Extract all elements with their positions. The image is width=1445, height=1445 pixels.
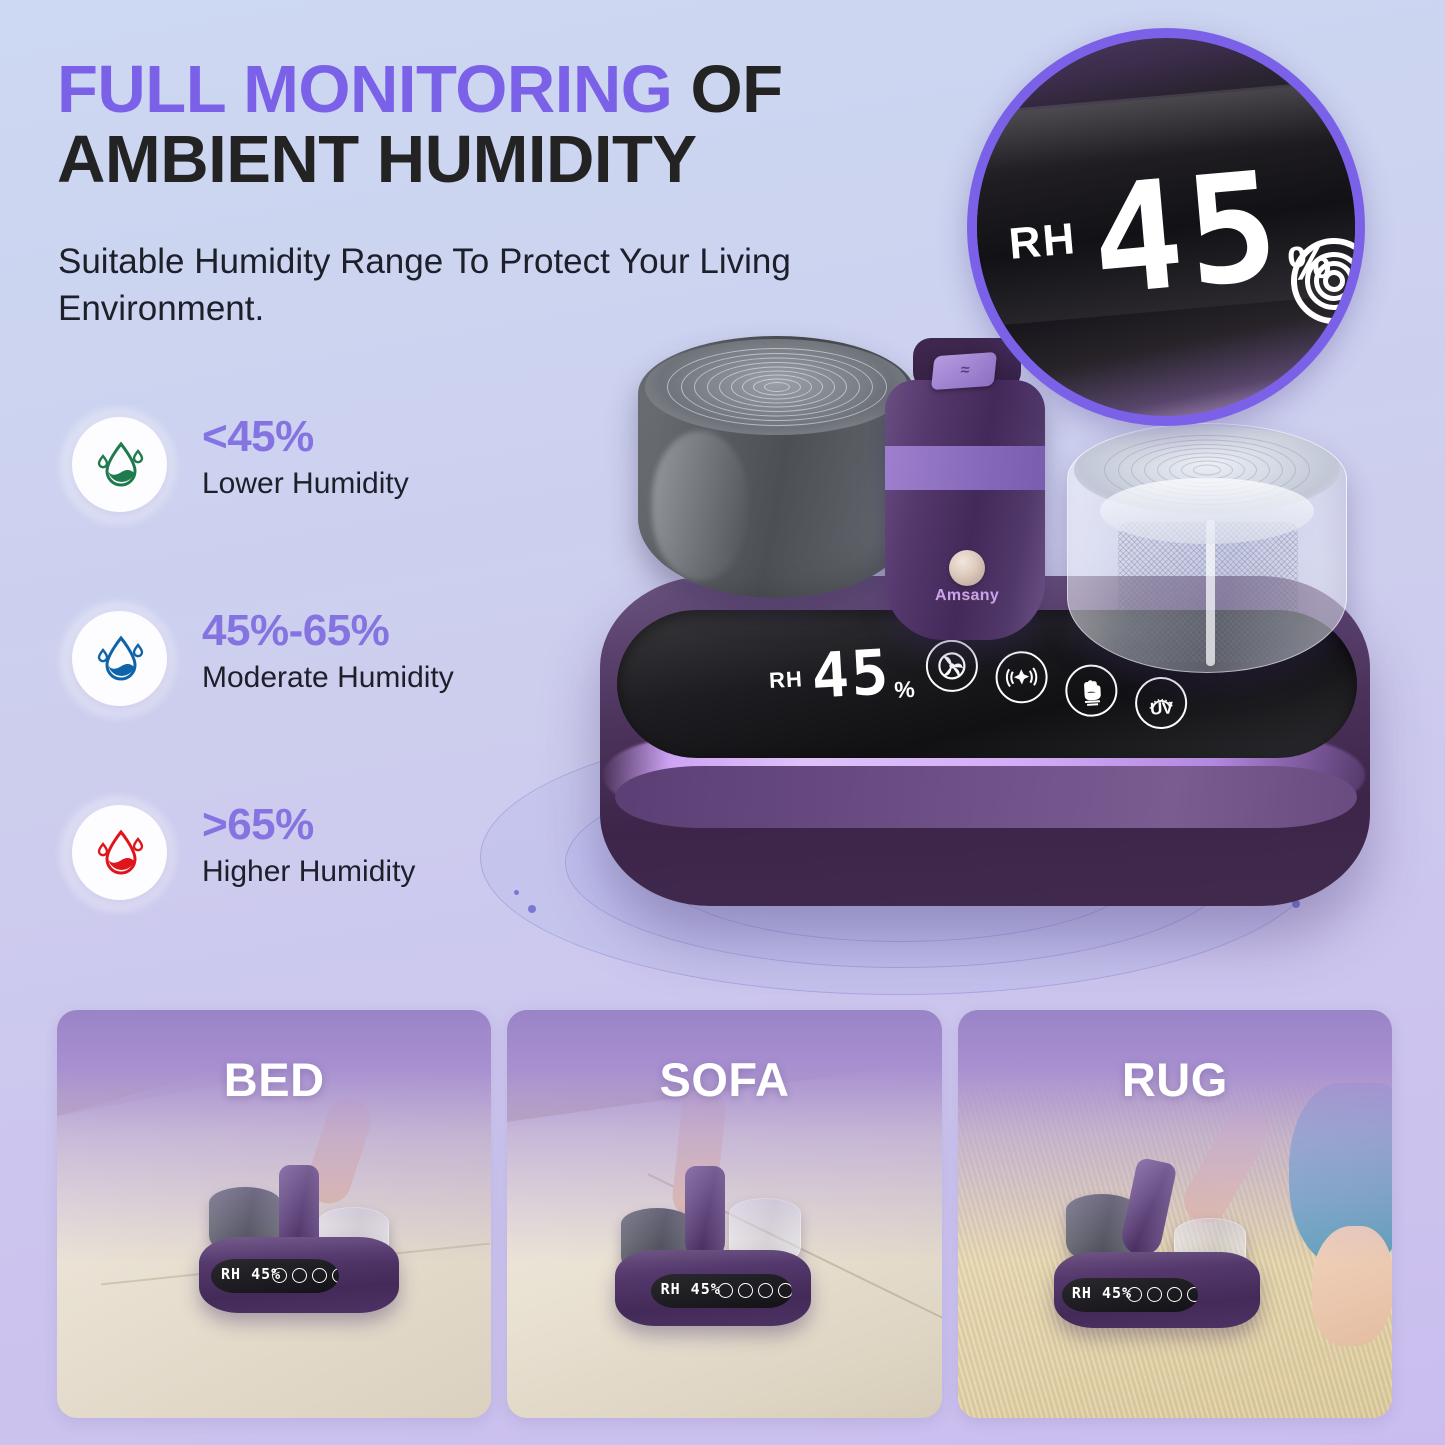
humidity-range: <45% (202, 412, 409, 462)
dust-cup-collar (1100, 478, 1314, 544)
ground-dot (514, 890, 519, 895)
scene-overlay (958, 1010, 1392, 1263)
mini-control-panel: RH 45% (1062, 1278, 1198, 1312)
humidity-level-item: 45%-65% Moderate Humidity (52, 592, 522, 786)
headline-of: OF (690, 52, 782, 127)
humidity-label: Higher Humidity (202, 852, 415, 892)
mini-rh-readout: RH 45% (661, 1280, 721, 1298)
scene-title: BED (57, 1052, 491, 1107)
suction-fan-icon[interactable] (925, 639, 980, 694)
rh-value: 45 (810, 643, 892, 705)
product-image: RH 45 % (555, 318, 1410, 978)
mini-rh-readout: RH 45% (1072, 1284, 1132, 1302)
scene-title: SOFA (507, 1052, 941, 1107)
handle-accent-band (885, 446, 1045, 490)
scene-card-sofa: RH 45% SOFA (507, 1010, 941, 1418)
humidity-icon-badge (72, 805, 167, 900)
magnified-display-callout: RH 45 % (967, 28, 1365, 426)
mini-control-panel: RH 45% (211, 1259, 339, 1293)
magnified-rh-label: RH (1007, 214, 1079, 270)
rh-label: RH (768, 666, 803, 694)
humidity-text-group: >65% Higher Humidity (202, 800, 415, 892)
headline: FULL MONITORING OF AMBIENT HUMIDITY (57, 55, 937, 195)
water-drop-icon (95, 633, 145, 685)
rh-unit: % (894, 676, 916, 704)
canister-gloss (652, 431, 748, 581)
brand-mark-icon (949, 550, 985, 586)
headline-line2: AMBIENT HUMIDITY (57, 125, 937, 195)
mini-mode-icons (718, 1283, 791, 1298)
humidity-range: 45%-65% (202, 606, 454, 656)
humidity-label: Moderate Humidity (202, 658, 454, 698)
humidity-icon-badge (72, 611, 167, 706)
ultrasonic-wave-icon[interactable] (994, 650, 1049, 705)
device-base-lower (615, 766, 1357, 828)
humidity-level-list: <45% Lower Humidity 45%-65% Moderate Hum… (52, 398, 522, 980)
headline-accent: FULL MONITORING (57, 52, 672, 127)
scene-overlay (57, 1010, 491, 1263)
humidity-level-item: >65% Higher Humidity (52, 786, 522, 980)
water-drop-icon (95, 439, 145, 491)
scene-title: RUG (958, 1052, 1392, 1107)
uv-sterilize-icon[interactable]: UV (1134, 676, 1189, 731)
ground-dot (528, 905, 536, 913)
magnified-rh-value: 45 (1087, 156, 1287, 312)
scene-card-bed: RH 45% BED (57, 1010, 491, 1418)
device-rh-display: RH 45 % (767, 642, 915, 711)
filter-top-rings (645, 339, 908, 435)
brand-logo: Amsany (921, 550, 1013, 605)
mini-control-panel: RH 45% (651, 1274, 792, 1308)
scene-card-rug: RH 45% RUG (958, 1010, 1392, 1418)
humidity-icon-badge (72, 417, 167, 512)
magnified-rh-readout: RH 45 % (1004, 152, 1334, 319)
humidity-range: >65% (202, 800, 415, 850)
water-drop-icon (95, 827, 145, 879)
humidity-text-group: <45% Lower Humidity (202, 412, 409, 504)
humidity-level-item: <45% Lower Humidity (52, 398, 522, 592)
scene-overlay (507, 1010, 941, 1263)
dust-cup-canister (1067, 423, 1347, 673)
brand-name: Amsany (935, 587, 999, 605)
hepa-filter-canister (638, 336, 915, 598)
humidity-label: Lower Humidity (202, 464, 409, 504)
mini-mode-icons (1127, 1287, 1198, 1302)
patting-hand-icon[interactable] (1064, 663, 1119, 718)
power-button[interactable]: ≈ (931, 352, 997, 390)
humidity-text-group: 45%-65% Moderate Humidity (202, 606, 454, 698)
mini-mode-icons (272, 1268, 339, 1283)
scene-gallery: RH 45% BED RH 45% (57, 1010, 1392, 1418)
